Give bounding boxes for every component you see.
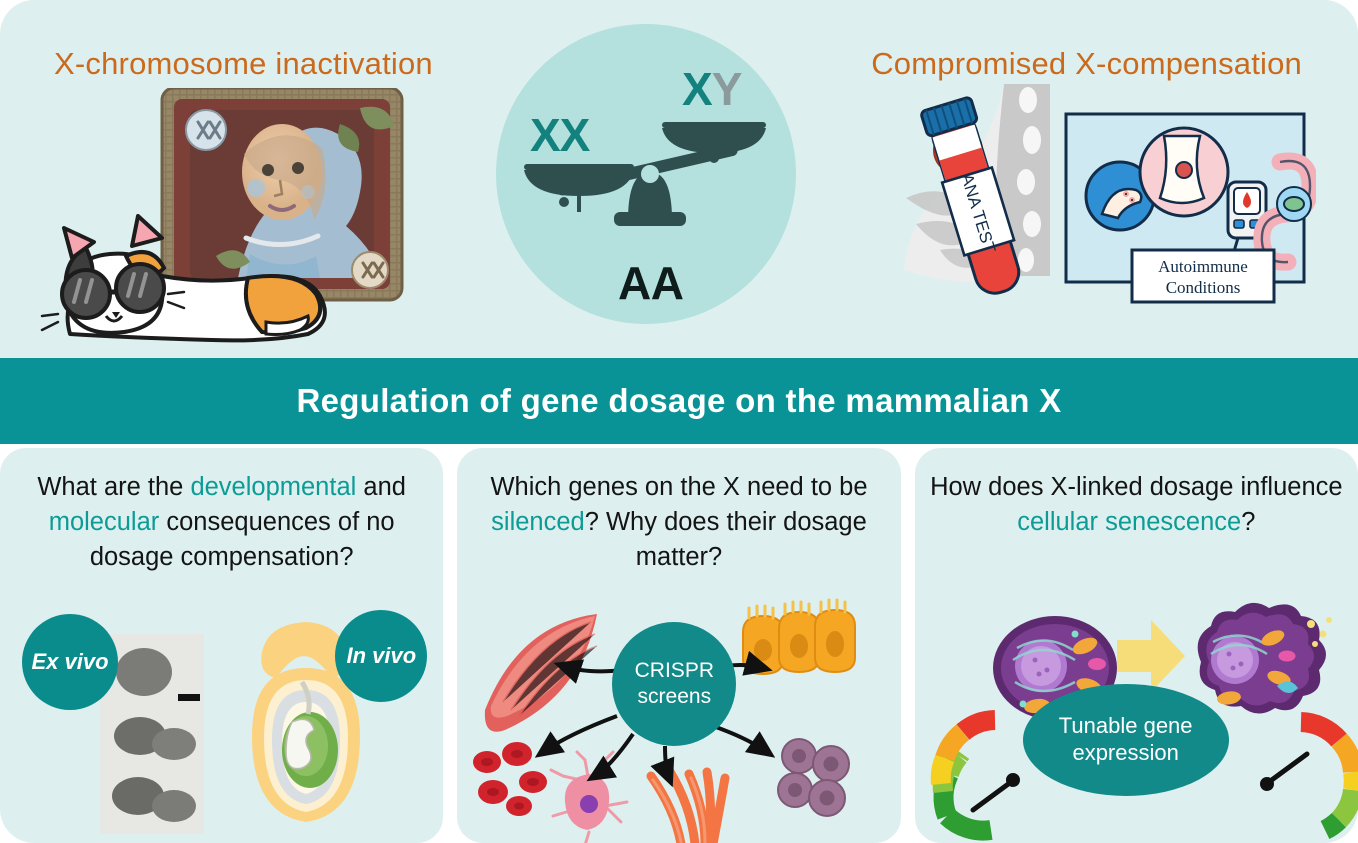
xx-medallion-top bbox=[186, 110, 226, 150]
q3-part-0: How does X-linked dosage influence bbox=[930, 473, 1343, 501]
gauge-left bbox=[940, 720, 1019, 831]
tunable-gene-expression-badge: Tunable gene expression bbox=[1023, 684, 1229, 796]
autoimmune-sign-line2: Conditions bbox=[1166, 278, 1241, 297]
skeletal-muscle-icon bbox=[485, 614, 597, 732]
autoimmune-conditions-icon: ANA TEST Autoimmune Conditions bbox=[920, 97, 1311, 302]
panel-1-question: What are the developmental and molecular… bbox=[14, 470, 429, 576]
tunable-badge-line2: expression bbox=[1072, 740, 1178, 765]
q1-part-1: developmental bbox=[190, 473, 356, 501]
question-panels: What are the developmental and molecular… bbox=[0, 448, 1358, 843]
senescence-transition-arrow bbox=[1117, 620, 1185, 692]
panel-3-art: Tunable gene expression bbox=[915, 598, 1358, 843]
title-banner: Regulation of gene dosage on the mammali… bbox=[0, 358, 1358, 444]
heading-compromised-x-compensation: Compromised X-compensation bbox=[871, 46, 1302, 82]
crispr-hub-line2: screens bbox=[638, 685, 712, 708]
page-title: Regulation of gene dosage on the mammali… bbox=[297, 382, 1062, 420]
panel-1-art: Ex vivo In vivo bbox=[0, 598, 443, 843]
crispr-hub-line1: CRISPR bbox=[635, 659, 714, 682]
q2-part-0: Which genes on the X need to be bbox=[490, 473, 867, 501]
panel-2-question: Which genes on the X need to be silenced… bbox=[471, 470, 886, 576]
panel-senescence: How does X-linked dosage influence cellu… bbox=[915, 448, 1358, 843]
tunable-badge-label: Tunable gene expression bbox=[1059, 713, 1193, 767]
balance-label-aa: AA bbox=[618, 256, 683, 310]
badge-in-vivo-label: In vivo bbox=[346, 643, 416, 669]
badge-ex-vivo: Ex vivo bbox=[22, 614, 118, 710]
q2-part-2: ? Why does their dosage matter? bbox=[585, 508, 867, 571]
lymphocytes-icon bbox=[778, 739, 849, 816]
badge-ex-vivo-label: Ex vivo bbox=[31, 649, 108, 675]
graphical-abstract: X-chromosome inactivation Compromised X-… bbox=[0, 0, 1358, 843]
neuron-icon bbox=[551, 752, 627, 843]
tunable-badge-line1: Tunable gene bbox=[1059, 713, 1193, 738]
q1-part-3: molecular bbox=[49, 508, 160, 536]
panel-silencing: Which genes on the X need to be silenced… bbox=[457, 448, 900, 843]
q3-part-1: cellular senescence bbox=[1017, 508, 1241, 536]
dosage-balance-graphic: XX XY bbox=[496, 24, 796, 324]
q1-part-2: and bbox=[356, 473, 406, 501]
red-blood-cells-icon bbox=[473, 742, 547, 816]
heading-x-inactivation: X-chromosome inactivation bbox=[54, 46, 433, 82]
epithelial-cells-icon bbox=[743, 600, 855, 674]
crispr-screens-hub: CRISPR screens bbox=[612, 622, 736, 746]
q2-part-1: silenced bbox=[491, 508, 585, 536]
muscle-fibers-icon bbox=[651, 770, 725, 843]
mosaic-portrait-and-calico-cat-art bbox=[40, 88, 410, 350]
autoimmune-sign-line1: Autoimmune bbox=[1158, 257, 1248, 276]
q1-part-0: What are the bbox=[37, 473, 190, 501]
crispr-hub-label: CRISPR screens bbox=[635, 658, 714, 711]
q3-part-2: ? bbox=[1241, 508, 1255, 536]
xx-medallion-bottom bbox=[352, 252, 388, 288]
gauge-right bbox=[1260, 722, 1354, 830]
breast-tumor-and-autoimmune-art: ANA TEST Autoimmune Conditions bbox=[896, 78, 1316, 340]
panel-3-question: How does X-linked dosage influence cellu… bbox=[929, 470, 1344, 540]
panel-2-art: CRISPR screens bbox=[457, 598, 900, 843]
senescent-cell-icon bbox=[1197, 603, 1331, 714]
panel-developmental: What are the developmental and molecular… bbox=[0, 448, 443, 843]
badge-in-vivo: In vivo bbox=[335, 610, 427, 702]
top-band: X-chromosome inactivation Compromised X-… bbox=[0, 0, 1358, 358]
